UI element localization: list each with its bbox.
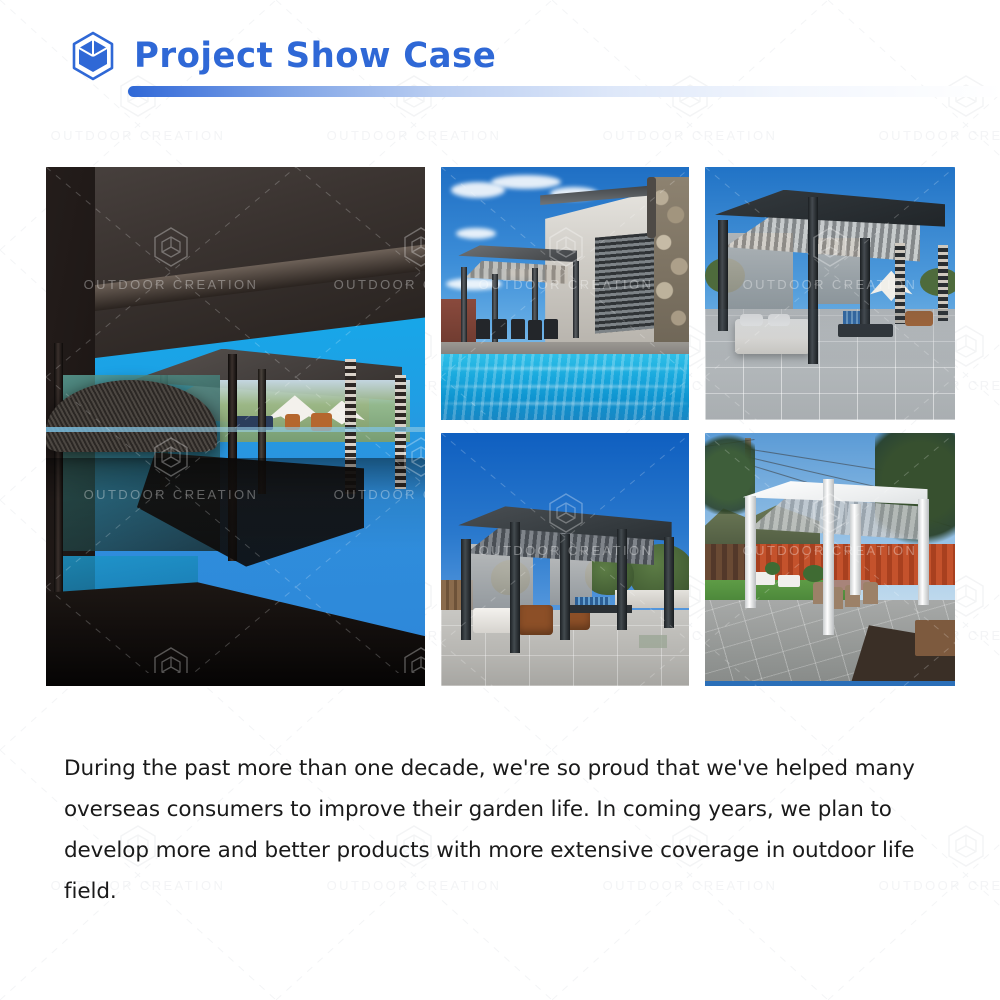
header-accent-rule [128, 86, 1000, 97]
page-title: Project Show Case [134, 39, 496, 74]
gallery-item-white-pergola[interactable] [705, 433, 955, 686]
project-gallery: OUTDOOR CREATION [46, 167, 955, 686]
gallery-item-daybed-terrace[interactable] [705, 167, 955, 420]
cube-hexagon-icon [70, 31, 116, 81]
photo-hero-pergola-poolside-view [46, 167, 425, 686]
photo-pergola-leather-chairs [441, 433, 689, 686]
page-header: Project Show Case [70, 28, 970, 108]
gallery-item-pool-stone[interactable] [441, 167, 689, 420]
gallery-item-hero[interactable]: OUTDOOR CREATION [46, 167, 425, 686]
photo-white-pergola-backyard [705, 433, 955, 686]
project-showcase-page: OUTDOOR CREATION Project Show Case [0, 0, 1000, 1000]
photo-pergola-pool-stone-wall [441, 167, 689, 420]
photo-pergola-daybed-terrace [705, 167, 955, 420]
gallery-item-leather-chairs[interactable] [441, 433, 689, 686]
showcase-description: During the past more than one decade, we… [64, 748, 944, 912]
